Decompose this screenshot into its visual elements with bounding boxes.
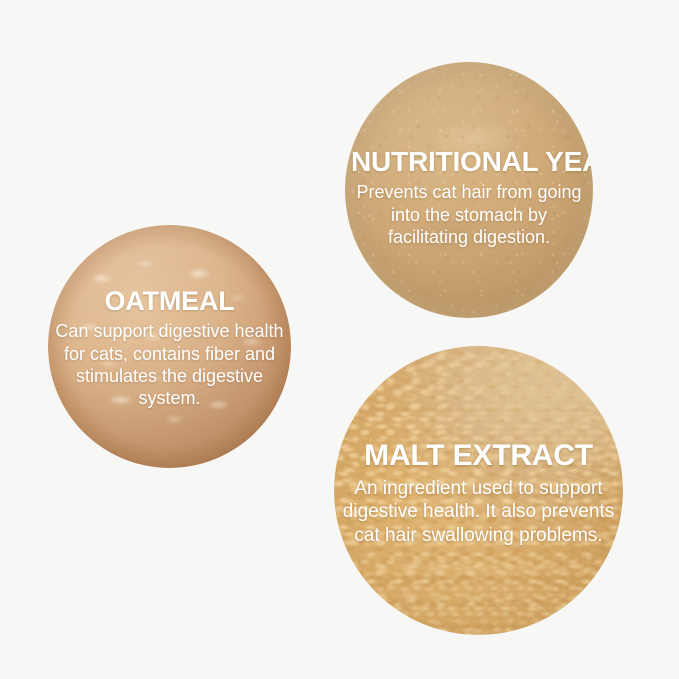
malt-extract-description: An ingredient used to support digestive … — [340, 477, 617, 548]
nutritional-yeast-title: NUTRITIONAL YEAST — [351, 147, 587, 176]
ingredient-card-malt-extract[interactable]: MALT EXTRACT An ingredient used to suppo… — [334, 346, 623, 635]
oatmeal-title: OATMEAL — [54, 287, 285, 315]
oatmeal-content: OATMEAL Can support digestive health for… — [48, 287, 291, 410]
nutritional-yeast-description: Prevents cat hair from going into the st… — [351, 181, 587, 248]
ingredient-card-oatmeal[interactable]: OATMEAL Can support digestive health for… — [48, 225, 291, 468]
malt-extract-content: MALT EXTRACT An ingredient used to suppo… — [334, 440, 623, 547]
infographic-canvas: OATMEAL Can support digestive health for… — [0, 0, 679, 679]
oatmeal-description: Can support digestive health for cats, c… — [54, 320, 285, 409]
malt-extract-title: MALT EXTRACT — [340, 440, 617, 472]
ingredient-card-nutritional-yeast[interactable]: NUTRITIONAL YEAST Prevents cat hair from… — [345, 62, 593, 318]
nutritional-yeast-content: NUTRITIONAL YEAST Prevents cat hair from… — [345, 147, 593, 248]
